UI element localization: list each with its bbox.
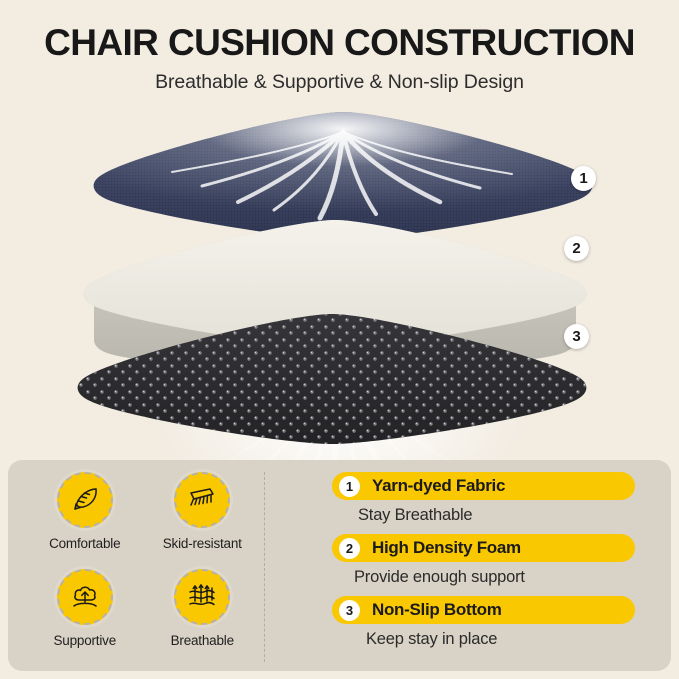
grip-brush-icon <box>174 472 230 528</box>
feature-title-1: Yarn-dyed Fabric <box>372 476 505 496</box>
feature-desc-3: Keep stay in place <box>332 624 652 655</box>
feature-item-1[interactable]: 1 Yarn-dyed Fabric Stay Breathable <box>332 472 652 531</box>
nonslip-layer-shape <box>70 310 595 450</box>
feature-number-3: 3 <box>339 600 360 621</box>
layer-badge-3: 3 <box>564 324 589 349</box>
panel-divider <box>264 472 265 662</box>
icon-label: Comfortable <box>49 536 120 551</box>
feature-title-2: High Density Foam <box>372 538 521 558</box>
feature-list: 1 Yarn-dyed Fabric Stay Breathable 2 Hig… <box>332 472 652 658</box>
feature-title-3: Non-Slip Bottom <box>372 600 502 620</box>
infographic-root: CHAIR CUSHION CONSTRUCTION Breathable & … <box>0 0 679 679</box>
feature-desc-1: Stay Breathable <box>332 500 652 531</box>
feature-icon-grid: Comfortable Skid-resistant Supportive <box>26 472 261 662</box>
header: CHAIR CUSHION CONSTRUCTION Breathable & … <box>0 0 679 94</box>
icon-cell-skid-resistant[interactable]: Skid-resistant <box>144 472 262 565</box>
feature-item-2[interactable]: 2 High Density Foam Provide enough suppo… <box>332 534 652 593</box>
product-exploded-view: 1 2 <box>0 92 679 452</box>
feature-pill-1: 1 Yarn-dyed Fabric <box>332 472 635 500</box>
feature-desc-2: Provide enough support <box>332 562 652 593</box>
icon-cell-breathable[interactable]: Breathable <box>144 569 262 662</box>
layer-non-slip-bottom: 3 <box>70 310 595 450</box>
layer-badge-1: 1 <box>571 166 596 191</box>
icon-cell-supportive[interactable]: Supportive <box>26 569 144 662</box>
icon-label: Breathable <box>171 633 234 648</box>
feature-pill-2: 2 High Density Foam <box>332 534 635 562</box>
icon-label: Skid-resistant <box>163 536 242 551</box>
feature-pill-3: 3 Non-Slip Bottom <box>332 596 635 624</box>
feather-icon <box>57 472 113 528</box>
mesh-airflow-icon <box>174 569 230 625</box>
layer-badge-2: 2 <box>564 236 589 261</box>
feature-item-3[interactable]: 3 Non-Slip Bottom Keep stay in place <box>332 596 652 655</box>
page-subtitle: Breathable & Supportive & Non-slip Desig… <box>0 62 679 94</box>
icon-label: Supportive <box>53 633 116 648</box>
feature-number-2: 2 <box>339 538 360 559</box>
feature-number-1: 1 <box>339 476 360 497</box>
cloud-arrow-up-icon <box>57 569 113 625</box>
icon-cell-comfortable[interactable]: Comfortable <box>26 472 144 565</box>
page-title: CHAIR CUSHION CONSTRUCTION <box>0 0 679 62</box>
